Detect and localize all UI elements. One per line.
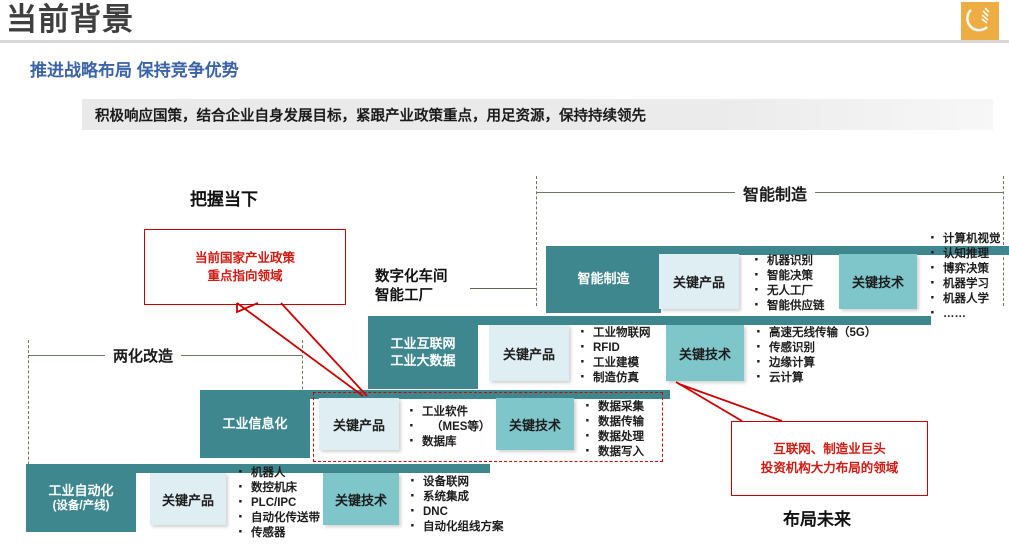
group-label-connector <box>470 288 536 289</box>
list-item: 数控机床 <box>236 481 320 496</box>
key-product-box-smart-manufacturing[interactable]: 关键产品 <box>659 254 739 309</box>
key-product-box-industrial-automation[interactable]: 关键产品 <box>150 473 226 525</box>
key-technology-box-industrial-internet[interactable]: 关键技术 <box>666 325 744 381</box>
list-item: 自动化组线方案 <box>408 520 504 535</box>
key-technology-label: 关键技术 <box>679 344 731 363</box>
key-message-banner: 积极响应国策，结合企业自身发展目标，紧跟产业政策重点，用足资源，保持持续领先 <box>82 99 993 130</box>
key-product-list-industrial-automation: 机器人 数控机床 PLC/IPC 自动化传送带 传感器 <box>236 466 320 541</box>
list-item: 设备联网 <box>408 475 504 490</box>
list-item: RFID <box>578 341 651 356</box>
list-item: 边缘计算 <box>754 356 876 371</box>
list-item: 制造仿真 <box>578 371 651 386</box>
key-product-label: 关键产品 <box>503 344 555 363</box>
list-item: 计算机视觉 <box>928 232 1001 247</box>
row-label-text: 工业互联网 <box>390 336 455 352</box>
group-label-line1: 数字化车间 <box>375 268 448 287</box>
callout-line-1: 当前国家产业政策 <box>195 251 295 265</box>
key-technology-list-industrial-internet: 高速无线传输（5G） 传感识别 边缘计算 云计算 <box>754 326 876 386</box>
list-item: 高速无线传输（5G） <box>754 326 876 341</box>
list-item: 智能供应链 <box>752 299 825 314</box>
row-label-industrial-automation: 工业自动化 (设备/产线) <box>26 464 136 532</box>
callout-investment-focus[interactable]: 互联网、制造业巨头 投资机构大力布局的领域 <box>731 421 928 496</box>
callout-policy-focus[interactable]: 当前国家产业政策 重点指向领域 <box>144 229 346 305</box>
callout-line-2: 投资机构大力布局的领域 <box>761 461 899 475</box>
guide-dash-smart-right <box>1003 176 1004 306</box>
list-item: 机器人 <box>236 466 320 481</box>
list-item: 工业物联网 <box>578 326 651 341</box>
key-product-list-industrial-internet: 工业物联网 RFID 工业建模 制造仿真 <box>578 326 651 386</box>
slide-root: 当前背景 推进战略布局 保持竞争优势 积极响应国策，结合企业自身发展目标，紧跟产… <box>0 0 1009 551</box>
key-technology-label: 关键技术 <box>852 272 904 291</box>
list-item: 博弈决策 <box>928 262 1001 277</box>
list-item: 云计算 <box>754 371 876 386</box>
list-item: 系统集成 <box>408 490 504 505</box>
key-product-label: 关键产品 <box>673 272 725 291</box>
key-technology-label: 关键技术 <box>335 490 387 509</box>
list-item: 机器识别 <box>752 254 825 269</box>
title-divider <box>0 40 1009 43</box>
callout-policy-text: 当前国家产业政策 重点指向领域 <box>195 249 295 285</box>
callout-line-1: 互联网、制造业巨头 <box>773 442 886 456</box>
row-label-text: 工业自动化 <box>48 483 113 499</box>
list-item: 机器人学 <box>928 292 1001 307</box>
group-label-digital-workshop: 数字化车间 智能工厂 <box>375 268 448 306</box>
stage-label-future: 布局未来 <box>783 505 851 530</box>
group-label-line2: 智能工厂 <box>375 287 448 306</box>
key-technology-list-industrial-automation: 设备联网 系统集成 DNC 自动化组线方案 <box>408 475 504 535</box>
list-item: 机器学习 <box>928 277 1001 292</box>
list-item: DNC <box>408 505 504 520</box>
key-technology-box-smart-manufacturing[interactable]: 关键技术 <box>839 254 917 309</box>
callout-line-2: 重点指向领域 <box>207 269 282 283</box>
key-product-box-industrial-internet[interactable]: 关键产品 <box>489 325 569 381</box>
list-item: 传感识别 <box>754 341 876 356</box>
list-item: 无人工厂 <box>752 284 825 299</box>
page-title: 当前背景 <box>6 0 134 39</box>
key-product-label: 关键产品 <box>162 490 214 509</box>
row-label-text-2: 工业大数据 <box>390 353 455 369</box>
stage-label-present: 把握当下 <box>190 185 258 210</box>
guide-dash-smart-left <box>536 176 537 306</box>
row-label-industrial-internet: 工业互联网 工业大数据 <box>368 316 478 389</box>
list-item: 工业建模 <box>578 356 651 371</box>
list-item: 自动化传送带 <box>236 511 320 526</box>
key-message-text: 积极响应国策，结合企业自身发展目标，紧跟产业政策重点，用足资源，保持持续领先 <box>95 104 646 125</box>
bracket-label-smart-manufacturing: 智能制造 <box>735 181 815 205</box>
list-item: 认知推理 <box>928 247 1001 262</box>
highlight-policy-region <box>313 392 663 462</box>
page-subtitle: 推进战略布局 保持竞争优势 <box>30 56 239 81</box>
list-item: 智能决策 <box>752 269 825 284</box>
bracket-label-transformation: 两化改造 <box>105 345 181 366</box>
key-technology-box-industrial-automation[interactable]: 关键技术 <box>323 473 399 525</box>
key-technology-list-smart-manufacturing: 计算机视觉 认知推理 博弈决策 机器学习 机器人学 …… <box>928 232 1001 322</box>
row-label-industrial-informatization: 工业信息化 <box>200 390 310 458</box>
company-logo-icon <box>961 2 999 40</box>
list-item: …… <box>928 307 1001 322</box>
callout-investment-text: 互联网、制造业巨头 投资机构大力布局的领域 <box>761 440 899 476</box>
row-label-text: 工业信息化 <box>222 416 287 432</box>
row-label-text-2: (设备/产线) <box>53 499 110 513</box>
row-label-smart-manufacturing: 智能制造 <box>546 246 661 313</box>
row-label-text: 智能制造 <box>577 271 629 287</box>
list-item: 传感器 <box>236 526 320 541</box>
list-item: PLC/IPC <box>236 496 320 511</box>
